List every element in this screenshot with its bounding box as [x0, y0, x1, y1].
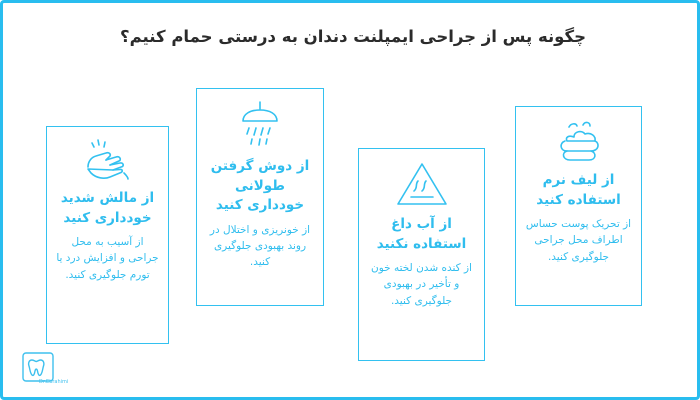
soft-loofah-icon: [524, 117, 633, 165]
card-use-soft-loofah: از لیف نرم استفاده کنید از تحریک پوست حس…: [515, 106, 642, 306]
card-avoid-rubbing: از مالش شدید خودداری کنید از آسیب به محل…: [46, 126, 169, 344]
brand-logo: Dr.Ebrahimi: [21, 351, 73, 393]
logo-text: Dr.Ebrahimi: [39, 379, 68, 385]
card-body: از خونریزی و اختلال در روند بهبودی جلوگی…: [205, 222, 315, 271]
card-avoid-long-shower: از دوش گرفتن طولانی خودداری کنید از خونر…: [196, 88, 324, 306]
card-no-hot-water: از آب داغ استفاده نکنید از کنده شدن لخته…: [358, 148, 485, 361]
card-body: از تحریک پوست حساس اطراف محل جراحی جلوگی…: [524, 216, 633, 265]
card-heading: از دوش گرفتن طولانی خودداری کنید: [205, 157, 315, 216]
infographic-page: چگونه پس از جراحی ایمپلنت دندان به درستی…: [0, 0, 700, 400]
washing-hands-icon: [55, 137, 160, 183]
card-body: از کنده شدن لخته خون و تأخیر در بهبودی ج…: [367, 260, 476, 309]
card-heading: از آب داغ استفاده نکنید: [367, 215, 476, 254]
shower-head-icon: [205, 99, 315, 151]
card-body: از آسیب به محل جراحی و افزایش درد یا تور…: [55, 234, 160, 283]
card-heading: از لیف نرم استفاده کنید: [524, 171, 633, 210]
card-heading: از مالش شدید خودداری کنید: [55, 189, 160, 228]
hot-water-warning-icon: [367, 159, 476, 209]
page-title: چگونه پس از جراحی ایمپلنت دندان به درستی…: [3, 27, 700, 46]
